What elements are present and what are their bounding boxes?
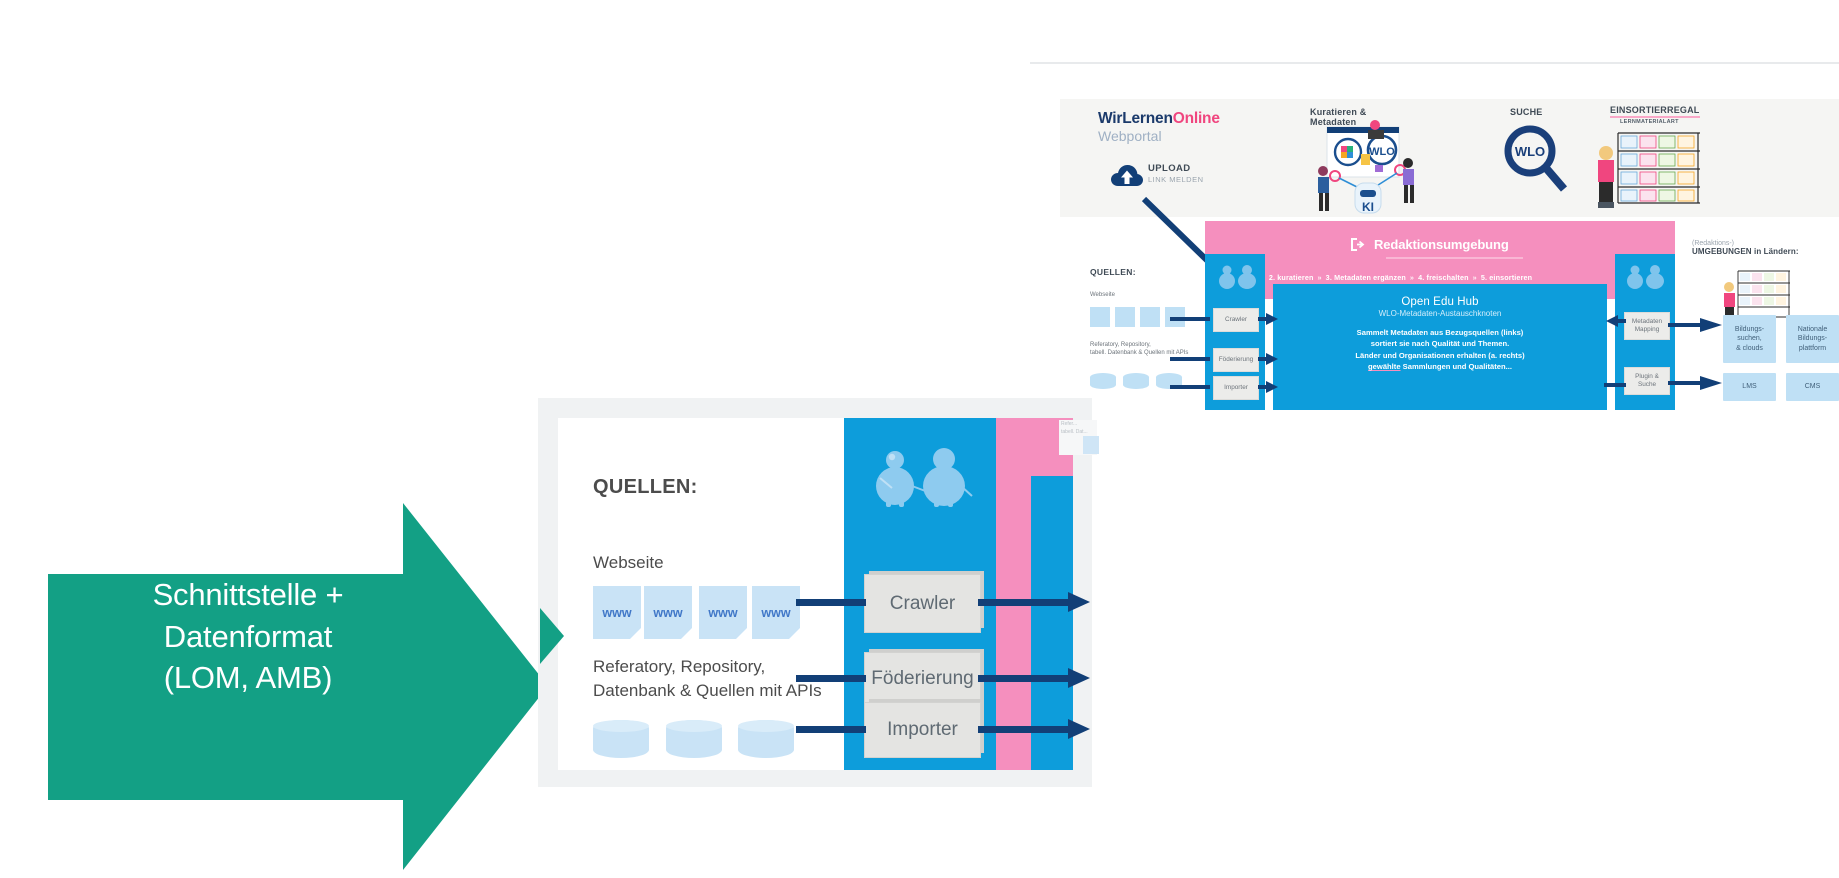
logo-wir: Wir	[1098, 110, 1122, 127]
cloud-upload-icon	[1110, 164, 1143, 188]
panel-chip-importer[interactable]: Importer	[864, 702, 981, 758]
kuratieren-illustration: WLO KI	[1305, 119, 1425, 224]
panel-cropped-label-l1: Refer...	[1061, 421, 1077, 427]
overview-document-icon	[1140, 307, 1160, 327]
panel-referatory-l1: Referatory, Repository,	[593, 657, 765, 676]
page-fold	[681, 628, 692, 639]
panel-www-text: www	[708, 606, 737, 620]
chip-map-l1: Metadaten	[1632, 318, 1662, 325]
overview-arrow-plugin-out	[1668, 375, 1724, 391]
upload-subtitle: LINK MELDEN	[1148, 175, 1204, 184]
overview-document-icon	[1090, 307, 1110, 327]
panel-arrow-in-crawler	[796, 597, 866, 608]
redaktionsumgebung-underline	[1386, 257, 1523, 259]
panel-www-tile: www	[752, 586, 800, 639]
panel-www-text: www	[653, 606, 682, 620]
hub-body-l2: sortiert sie nach Qualität und Themen.	[1285, 338, 1595, 349]
overview-quellen-heading: QUELLEN:	[1090, 267, 1136, 277]
svg-text:KI: KI	[1362, 200, 1374, 214]
step-5: 5. einsortieren	[1481, 273, 1532, 282]
overview-chip-foederierung[interactable]: Föderierung	[1213, 348, 1259, 372]
logout-arrow-icon	[1350, 237, 1365, 252]
hub-body-underlined: gewählte	[1368, 362, 1401, 371]
panel-arrow-out-crawler	[978, 597, 1092, 608]
people-icon-left	[1216, 263, 1260, 289]
green-arrow-line-2: Datenformat	[83, 616, 413, 658]
redaktionsumgebung-header: Redaktionsumgebung	[1350, 237, 1509, 252]
upload-title: UPLOAD	[1148, 163, 1204, 174]
overview-arrow-foederierung-out	[1258, 351, 1280, 367]
card-nat-l2: Bildungs-	[1798, 335, 1827, 342]
panel-chip-crawler[interactable]: Crawler	[864, 574, 981, 633]
panel-arrow-out-importer	[978, 724, 1092, 735]
panel-www-tile: www	[593, 586, 641, 639]
overview-arrow-importer-out	[1258, 379, 1280, 395]
people-icon-right	[1624, 263, 1668, 289]
panel-chip-foederierung[interactable]: Föderierung	[864, 652, 981, 706]
card-nat-l1: Nationale	[1798, 326, 1828, 333]
step-sep-4: »	[1469, 273, 1481, 282]
overview-arrow-mapping-out	[1668, 317, 1724, 333]
panel-cropped-label-l2: tabell. Dat...	[1061, 429, 1088, 435]
page-fold	[630, 628, 641, 639]
panel-www-tile: www	[699, 586, 747, 639]
overview-chip-metadaten-mapping[interactable]: MetadatenMapping	[1624, 312, 1670, 340]
panel-quellen-heading: QUELLEN:	[593, 476, 698, 499]
logo-lernen: Lernen	[1122, 110, 1172, 127]
wirlernenonline-logo: WirLernenOnline Webportal	[1098, 111, 1288, 144]
overview-arrow-crawler-in	[1170, 313, 1218, 325]
umgebungen-header: (Redaktions-) UMGEBUNGEN in Ländern:	[1692, 240, 1832, 256]
card-bild-l3: & clouds	[1736, 345, 1763, 352]
overview-document-icon	[1115, 307, 1135, 327]
caption-einsortierregal: EINSORTIERREGAL	[1610, 105, 1700, 118]
caption-suche: SUCHE	[1510, 107, 1543, 117]
hub-body-l4: gewählte Sammlungen und Qualitäten...	[1285, 361, 1595, 372]
svg-text:WLO: WLO	[1369, 146, 1395, 158]
overview-database-icon	[1123, 373, 1149, 389]
hub-title: Open Edu Hub	[1273, 296, 1607, 308]
caption-einsortierregal-text: EINSORTIERREGAL	[1610, 105, 1700, 115]
logo-online: Online	[1173, 110, 1220, 127]
shelf-icon	[1590, 123, 1710, 223]
panel-database-icon	[593, 720, 649, 758]
green-arrow-callout: Schnittstelle + Datenformat (LOM, AMB)	[48, 498, 553, 873]
logo-subtitle: Webportal	[1098, 128, 1288, 144]
redaktionsumgebung-label: Redaktionsumgebung	[1374, 237, 1509, 252]
overview-diagram: WirLernenOnline Webportal UPLOAD LINK ME…	[1020, 85, 1839, 425]
panel-pink-column	[996, 418, 1031, 770]
panel-webseite-label: Webseite	[593, 553, 664, 573]
green-arrow-text: Schnittstelle + Datenformat (LOM, AMB)	[83, 574, 413, 699]
page-fold	[789, 628, 800, 639]
green-arrow-line-3: (LOM, AMB)	[83, 657, 413, 699]
chip-map-l2: Mapping	[1635, 326, 1660, 333]
svg-text:WLO: WLO	[1515, 144, 1545, 159]
page-fold	[736, 628, 747, 639]
hub-body-l3: Länder und Organisationen erhalten (a. r…	[1285, 350, 1595, 361]
overview-referatory-l1: Referatory, Repository,	[1090, 342, 1151, 348]
panel-cropped-doc-icon	[1083, 436, 1099, 454]
overview-arrow-hub-to-plugin	[1604, 377, 1626, 393]
open-edu-hub-block: Open Edu Hub WLO-Metadaten-Austauschknot…	[1273, 284, 1607, 410]
upload-text: UPLOAD LINK MELDEN	[1148, 163, 1204, 184]
panel-database-icon	[738, 720, 794, 758]
umgebungen-kicker: (Redaktions-)	[1692, 240, 1832, 247]
umgebungen-title: UMGEBUNGEN in Ländern:	[1692, 247, 1832, 256]
logo-wordmark: WirLernenOnline	[1098, 111, 1288, 127]
chip-plug-l2: Suche	[1638, 381, 1656, 388]
zoom-detail-panel: QUELLEN: Webseite www www www www Refera…	[538, 398, 1092, 787]
panel-arrow-out-foederierung	[978, 673, 1092, 684]
panel-www-text: www	[602, 606, 631, 620]
overview-arrow-foederierung-in	[1170, 353, 1218, 365]
panel-www-tile: www	[644, 586, 692, 639]
panel-referatory-l2: Datenbank & Quellen mit APIs	[593, 681, 822, 700]
pipeline-steps: 1. sammeln»2. kuratieren»3. Metadaten er…	[1216, 273, 1666, 282]
panel-www-text: www	[761, 606, 790, 620]
caption-kuratieren-l1: Kuratieren &	[1310, 107, 1366, 117]
panel-arrow-in-importer	[796, 724, 866, 735]
target-card-bildungssuchen[interactable]: Bildungs-suchen,& clouds	[1723, 315, 1776, 363]
panel-referatory-label: Referatory, Repository, Datenbank & Quel…	[593, 655, 822, 703]
target-card-lms[interactable]: LMS	[1723, 373, 1776, 401]
target-card-nationale-bildungsplattform[interactable]: NationaleBildungs-plattform	[1786, 315, 1839, 363]
overview-database-icon	[1090, 373, 1116, 389]
step-sep-2: »	[1314, 273, 1326, 282]
step-2: 2. kuratieren	[1269, 273, 1314, 282]
people-icon-large	[868, 446, 978, 508]
hub-body: Sammelt Metadaten aus Bezugsquellen (lin…	[1273, 327, 1607, 373]
panel-arrow-in-foederierung	[796, 673, 866, 684]
top-divider	[1030, 62, 1839, 64]
step-sep-3: »	[1406, 273, 1418, 282]
hub-subtitle: WLO-Metadaten-Austauschknoten	[1273, 309, 1607, 318]
overview-chip-crawler[interactable]: Crawler	[1213, 308, 1259, 332]
magnifier-icon: WLO	[1500, 123, 1570, 195]
green-arrow-line-1: Schnittstelle +	[83, 574, 413, 616]
overview-arrow-hub-to-mapping	[1604, 313, 1626, 329]
chip-plug-l1: Plugin &	[1635, 373, 1659, 380]
upload-group: UPLOAD LINK MELDEN	[1110, 162, 1260, 196]
overview-arrow-importer-in	[1170, 381, 1218, 393]
step-4: 4. freischalten	[1418, 273, 1469, 282]
green-arrow-tip-overlap	[540, 608, 564, 664]
hub-body-l1: Sammelt Metadaten aus Bezugsquellen (lin…	[1285, 327, 1595, 338]
overview-arrow-crawler-out	[1258, 311, 1280, 327]
card-bild-l2: suchen,	[1737, 335, 1762, 342]
panel-people-icon	[868, 446, 978, 508]
target-card-cms[interactable]: CMS	[1786, 373, 1839, 401]
panel-database-icon	[666, 720, 722, 758]
overview-chip-plugin-suche[interactable]: Plugin &Suche	[1624, 367, 1670, 395]
overview-webseite-label: Webseite	[1090, 292, 1115, 298]
overview-chip-importer[interactable]: Importer	[1213, 376, 1259, 400]
card-nat-l3: plattform	[1799, 345, 1826, 352]
card-bild-l1: Bildungs-	[1735, 326, 1764, 333]
step-3: 3. Metadaten ergänzen	[1326, 273, 1406, 282]
